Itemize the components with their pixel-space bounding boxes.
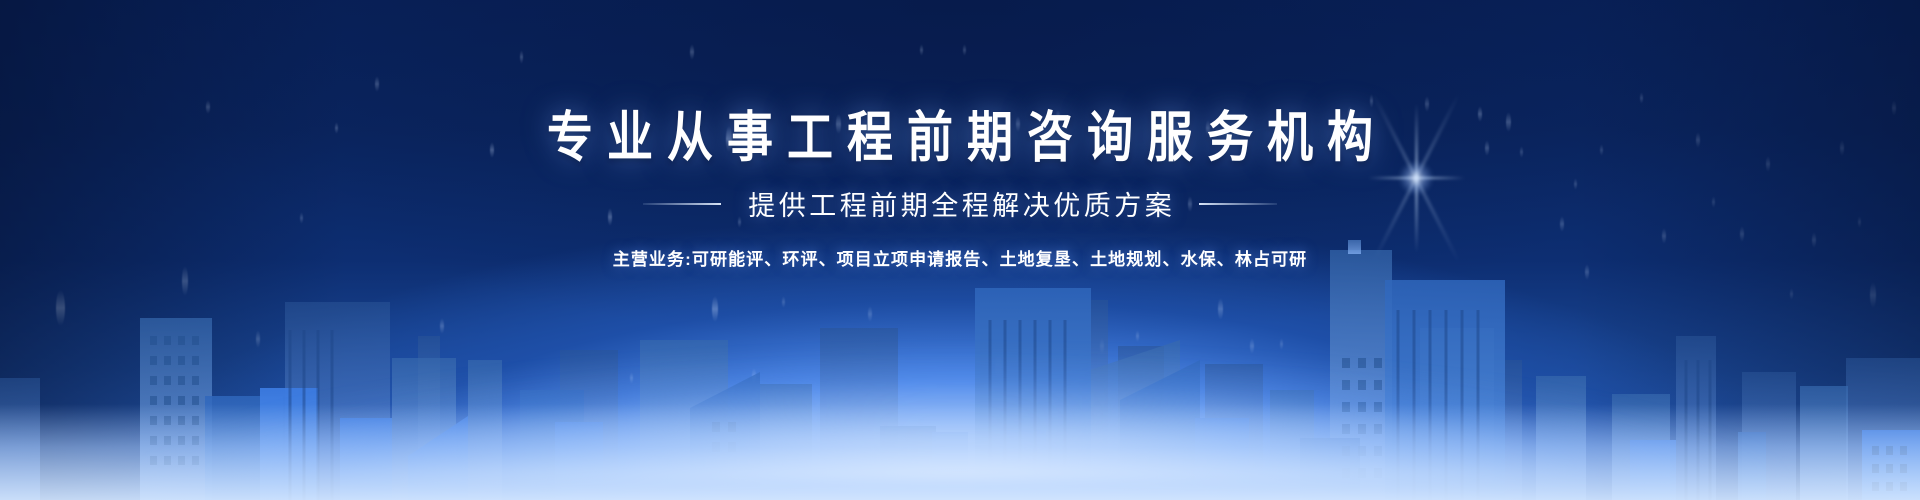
banner-services-list: 主营业务:可研能评、环评、项目立项申请报告、土地复垦、土地规划、水保、林占可研 bbox=[613, 245, 1308, 270]
banner-title: 专业从事工程前期咨询服务机构 bbox=[533, 104, 1387, 170]
banner-content: 专业从事工程前期咨询服务机构 提供工程前期全程解决优质方案 主营业务:可研能评、… bbox=[0, 0, 1920, 500]
right-rule-decoration bbox=[1199, 203, 1277, 205]
left-rule-decoration bbox=[643, 203, 721, 205]
banner-subtitle-row: 提供工程前期全程解决优质方案 bbox=[643, 184, 1278, 223]
hero-banner: 专业从事工程前期咨询服务机构 提供工程前期全程解决优质方案 主营业务:可研能评、… bbox=[0, 0, 1920, 500]
banner-subtitle: 提供工程前期全程解决优质方案 bbox=[745, 184, 1176, 223]
